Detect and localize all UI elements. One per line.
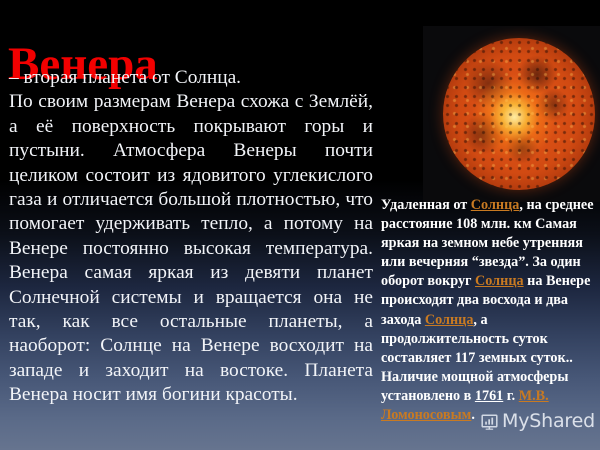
myshared-label: MyShared <box>502 412 595 431</box>
inline-text: . <box>471 407 475 423</box>
left-text-column: – вторая планета от Солнца. По своим раз… <box>9 66 373 408</box>
inline-link[interactable]: Солнца <box>475 273 524 289</box>
body-paragraph: По своим размерам Венера схожа с Землёй,… <box>9 90 373 407</box>
inline-text: Удаленная от <box>381 197 471 213</box>
myshared-watermark: MyShared <box>481 412 595 431</box>
planet-venus-image <box>423 26 600 202</box>
inline-text: г. <box>503 388 518 404</box>
planet-venus-disc <box>443 38 595 190</box>
presentation-chart-icon <box>481 413 498 430</box>
right-text-column: Удаленная от Солнца, на среднее расстоян… <box>381 196 595 425</box>
inline-link[interactable]: Солнца <box>425 312 474 328</box>
right-text-paragraph: Удаленная от Солнца, на среднее расстоян… <box>381 196 595 425</box>
lead-paragraph: – вторая планета от Солнца. <box>9 66 373 90</box>
planet-surface-texture <box>443 38 595 190</box>
presentation-slide: Венера – вторая планета от Солнца. По св… <box>0 0 600 450</box>
inline-underlined-text[interactable]: 1761 <box>475 388 503 404</box>
inline-link[interactable]: Солнца <box>471 197 520 213</box>
